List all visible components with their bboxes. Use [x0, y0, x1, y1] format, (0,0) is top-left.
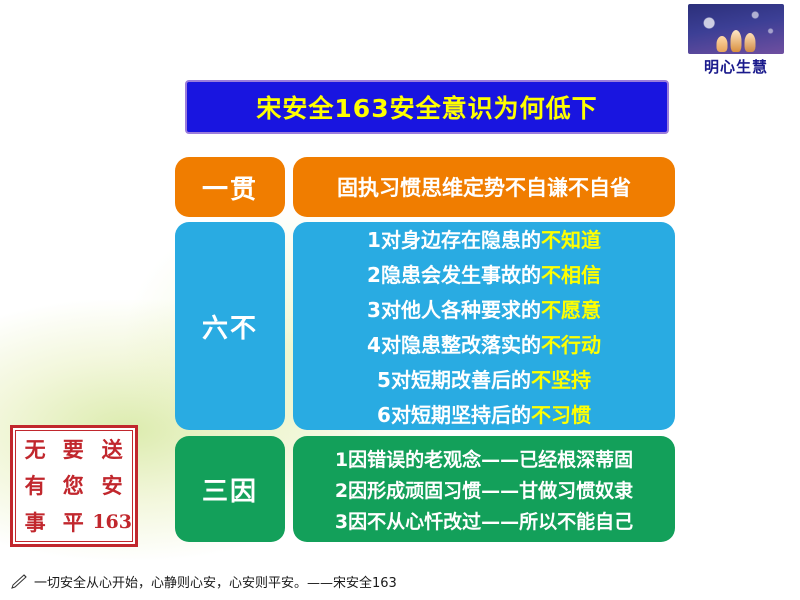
logo-label: 明心生慧	[684, 56, 788, 77]
seal-char: 有	[25, 475, 46, 496]
list-item-text: 6对短期坚持后的	[377, 403, 531, 427]
section-row-sanyin: 三因 1因错误的老观念——已经根深蒂固 2因形成顽固习惯——甘做习惯奴隶 3因不…	[175, 436, 675, 542]
list-item: 5对短期改善后的不坚持	[377, 364, 591, 393]
list-item-highlight: 不相信	[541, 263, 601, 287]
section-content-yiguan: 固执习惯思维定势不自谦不自省	[293, 157, 675, 217]
seal-char: 您	[63, 475, 84, 496]
seal-char: 平	[63, 512, 84, 533]
list-item-text: 4对隐患整改落实的	[367, 333, 541, 357]
list-item-highlight: 不习惯	[531, 403, 591, 427]
seal-char: 163	[92, 513, 132, 532]
list-item-text: 3对他人各种要求的	[367, 298, 541, 322]
list-item-text: 2因形成顽固习惯——甘做习惯奴隶	[335, 480, 633, 502]
section-content-sanyin: 1因错误的老观念——已经根深蒂固 2因形成顽固习惯——甘做习惯奴隶 3因不从心忏…	[293, 436, 675, 542]
list-item-highlight: 不知道	[541, 228, 601, 252]
list-item-text: 5对短期改善后的	[377, 368, 531, 392]
list-item: 2隐患会发生事故的不相信	[367, 259, 601, 288]
section-row-yiguan: 一贯 固执习惯思维定势不自谦不自省	[175, 157, 675, 217]
list-item: 2因形成顽固习惯——甘做习惯奴隶	[335, 476, 633, 503]
list-item: 固执习惯思维定势不自谦不自省	[337, 172, 631, 202]
title-banner: 宋安全163安全意识为何低下	[185, 80, 669, 134]
section-content-liubu: 1对身边存在隐患的不知道 2隐患会发生事故的不相信 3对他人各种要求的不愿意 4…	[293, 222, 675, 430]
footer-note: 一切安全从心开始，心静则心安，心安则平安。——宋安全163	[10, 572, 397, 591]
list-item-text: 1对身边存在隐患的	[367, 228, 541, 252]
seal-char: 安	[102, 475, 123, 496]
section-label-sanyin: 三因	[175, 436, 285, 542]
list-item-highlight: 不坚持	[531, 368, 591, 392]
seal-char: 无	[25, 439, 46, 460]
page-title: 宋安全163安全意识为何低下	[256, 89, 597, 125]
brand-logo: 明心生慧	[684, 4, 788, 77]
list-item: 3对他人各种要求的不愿意	[367, 294, 601, 323]
logo-figure-group	[717, 30, 756, 52]
list-item-highlight: 不愿意	[541, 298, 601, 322]
pen-icon	[10, 574, 30, 590]
seal-char: 事	[25, 512, 46, 533]
list-item: 4对隐患整改落实的不行动	[367, 329, 601, 358]
section-row-liubu: 六不 1对身边存在隐患的不知道 2隐患会发生事故的不相信 3对他人各种要求的不愿…	[175, 222, 675, 430]
list-item-highlight: 不行动	[541, 333, 601, 357]
list-item-text: 2隐患会发生事故的	[367, 263, 541, 287]
list-item-text: 1因错误的老观念——已经根深蒂固	[335, 449, 633, 471]
seal-char: 要	[63, 439, 84, 460]
section-label-liubu: 六不	[175, 222, 285, 430]
seal-char: 送	[102, 439, 123, 460]
section-label-yiguan: 一贯	[175, 157, 285, 217]
seal-stamp: 无 要 送 有 您 安 事 平 163	[10, 425, 138, 547]
list-item-text: 固执习惯思维定势不自谦不自省	[337, 176, 631, 200]
logo-figure-tall	[731, 30, 742, 52]
temple-figures-icon	[688, 4, 784, 54]
seal-grid: 无 要 送 有 您 安 事 平 163	[15, 430, 133, 542]
list-item: 1因错误的老观念——已经根深蒂固	[335, 445, 633, 472]
list-item: 6对短期坚持后的不习惯	[377, 399, 591, 428]
list-item-text: 3因不从心忏改过——所以不能自己	[335, 511, 633, 533]
logo-figure-mid	[745, 33, 756, 52]
list-item: 3因不从心忏改过——所以不能自己	[335, 507, 633, 534]
footer-text: 一切安全从心开始，心静则心安，心安则平安。——宋安全163	[34, 572, 397, 591]
list-item: 1对身边存在隐患的不知道	[367, 224, 601, 253]
logo-figure-small	[717, 36, 728, 52]
